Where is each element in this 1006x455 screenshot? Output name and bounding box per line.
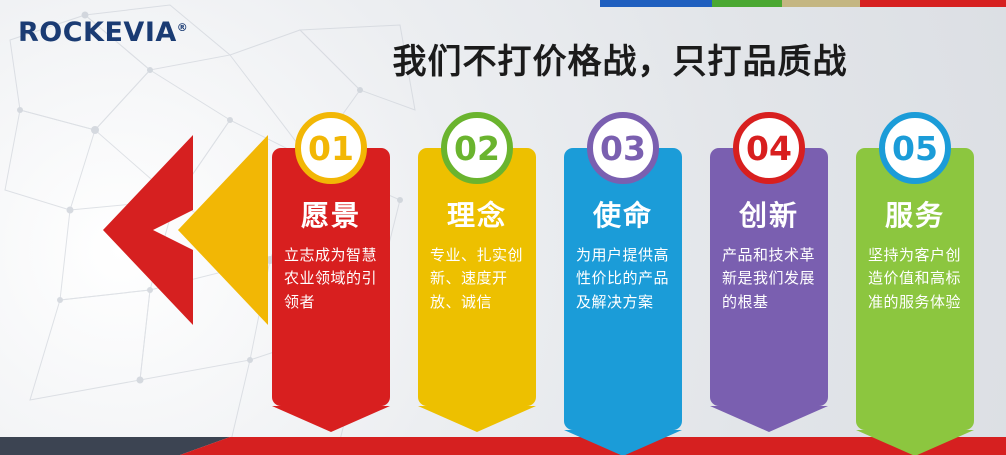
- card-title-01: 愿景: [272, 194, 390, 234]
- slide-canvas: ROCKEVIA® 我们不打价格战，只打品质战 愿景 立志成为智慧农业领域的引领…: [0, 0, 1006, 455]
- registered-mark: ®: [177, 21, 189, 34]
- card-desc-03: 为用户提供高性价比的产品及解决方案: [564, 244, 682, 328]
- top-color-bar: [600, 0, 1006, 7]
- card-title-03: 使命: [564, 194, 682, 234]
- card-desc-02: 专业、扎实创新、速度开放、诚信: [418, 244, 536, 328]
- card-pointer-05: [856, 430, 974, 455]
- brand-name: ROCKEVIA: [18, 17, 177, 48]
- card-desc-05: 坚持为客户创造价值和高标准的服务体验: [856, 244, 974, 328]
- card-pointer-02: [418, 406, 536, 432]
- card-title-05: 服务: [856, 194, 974, 234]
- value-card-02[interactable]: 理念 专业、扎实创新、速度开放、诚信 02: [418, 148, 536, 406]
- topbar-segment-blue: [600, 0, 712, 7]
- topbar-segment-red: [860, 0, 1006, 7]
- card-number-01: 01: [308, 129, 354, 168]
- card-desc-04: 产品和技术革新是我们发展的根基: [710, 244, 828, 328]
- topbar-segment-khaki: [782, 0, 860, 7]
- chevron-decoration: [78, 115, 278, 345]
- card-title-04: 创新: [710, 194, 828, 234]
- card-number-02: 02: [454, 129, 500, 168]
- card-number-05: 05: [892, 129, 938, 168]
- card-badge-01: 01: [295, 112, 367, 184]
- card-badge-04: 04: [733, 112, 805, 184]
- value-card-03[interactable]: 使命 为用户提供高性价比的产品及解决方案 03: [564, 148, 682, 430]
- card-desc-01: 立志成为智慧农业领域的引领者: [272, 244, 390, 328]
- value-card-list: 愿景 立志成为智慧农业领域的引领者 01 理念 专业、扎实创新、速度开放、诚信 …: [250, 100, 990, 440]
- card-number-03: 03: [600, 129, 646, 168]
- card-title-02: 理念: [418, 194, 536, 234]
- value-card-05[interactable]: 服务 坚持为客户创造价值和高标准的服务体验 05: [856, 148, 974, 430]
- page-title: 我们不打价格战，只打品质战: [310, 34, 930, 83]
- card-pointer-03: [564, 430, 682, 455]
- card-badge-03: 03: [587, 112, 659, 184]
- card-pointer-04: [710, 406, 828, 432]
- value-card-04[interactable]: 创新 产品和技术革新是我们发展的根基 04: [710, 148, 828, 406]
- topbar-segment-green: [712, 0, 782, 7]
- card-badge-05: 05: [879, 112, 951, 184]
- card-badge-02: 02: [441, 112, 513, 184]
- card-number-04: 04: [746, 129, 792, 168]
- card-pointer-01: [272, 406, 390, 432]
- value-card-01[interactable]: 愿景 立志成为智慧农业领域的引领者 01: [272, 148, 390, 406]
- brand-logo: ROCKEVIA®: [18, 17, 188, 48]
